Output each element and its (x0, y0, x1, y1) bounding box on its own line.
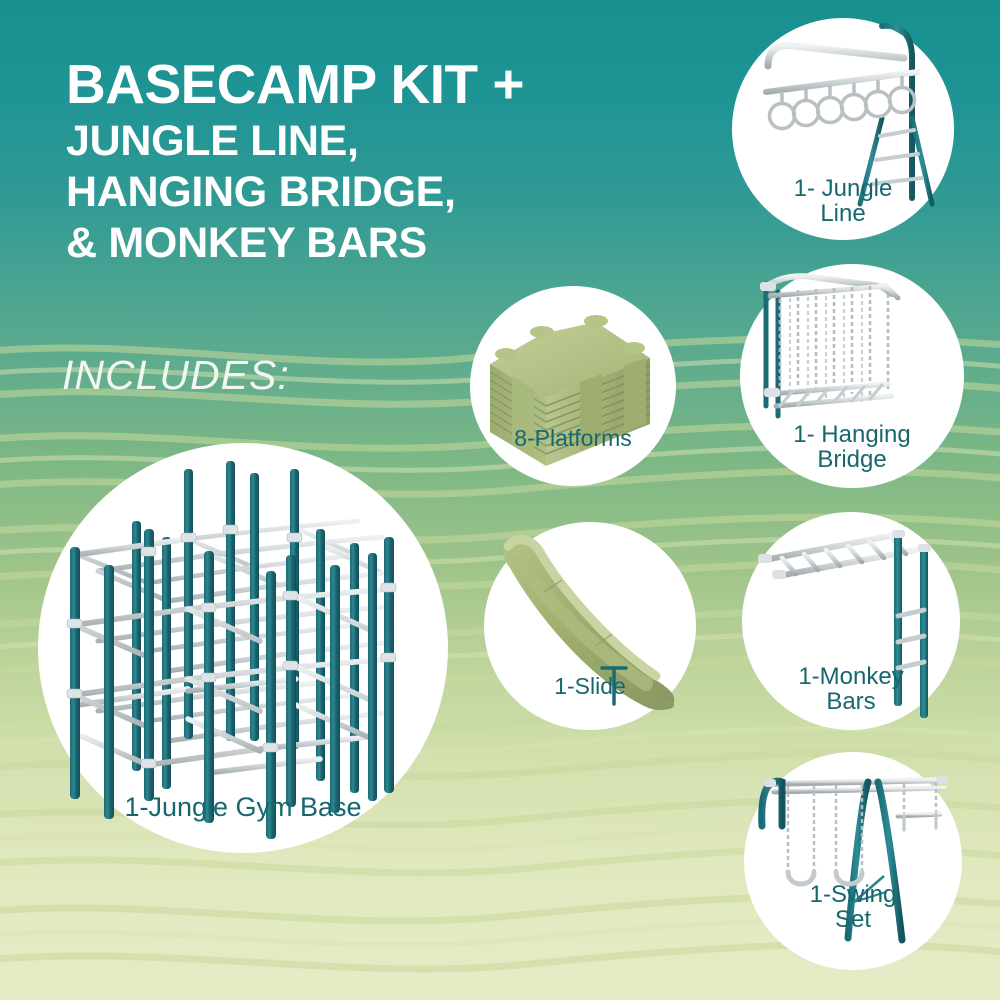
callout-label-line-2: Line (732, 201, 954, 226)
foam-platforms-icon (470, 286, 676, 486)
callout-label-line-2: Set (744, 907, 962, 932)
swing-set-icon (744, 752, 962, 970)
callout-label-platforms: 8-Platforms (470, 426, 676, 450)
callout-label-line-1: 1- Hanging (740, 422, 964, 447)
callout-label-line-1: 1- Jungle (732, 176, 954, 201)
headline-sub-line-2: HANGING BRIDGE, (66, 167, 686, 218)
callout-label-line-1: 1-Swing (744, 882, 962, 907)
callout-label-jungle-gym-base: 1-Jungle Gym Base (38, 793, 448, 822)
callout-platforms: 8-Platforms (470, 286, 676, 486)
callout-slide: 1-Slide (484, 522, 696, 730)
callout-jungle-gym-base: 1-Jungle Gym Base (38, 443, 448, 853)
callout-label-line-1: 1-Slide (554, 673, 626, 699)
callout-label-line-2: Bars (742, 689, 960, 714)
callout-label-line-2: Bridge (740, 447, 964, 472)
callout-label-slide: 1-Slide (484, 674, 696, 698)
callout-label-line-1: 8-Platforms (514, 425, 632, 451)
callout-label-monkey-bars: 1-Monkey Bars (742, 664, 960, 715)
callout-label-line-1: 1-Jungle Gym Base (124, 792, 361, 822)
callout-label-swing-set: 1-Swing Set (744, 882, 962, 933)
poster-canvas: BASECAMP KIT + JUNGLE LINE, HANGING BRID… (0, 0, 1000, 1000)
headline-block: BASECAMP KIT + JUNGLE LINE, HANGING BRID… (66, 56, 686, 268)
callout-jungle-line: 1- Jungle Line (732, 18, 954, 240)
headline-sub-line-1: JUNGLE LINE, (66, 116, 686, 167)
callout-monkey-bars: 1-Monkey Bars (742, 512, 960, 730)
callout-label-line-1: 1-Monkey (742, 664, 960, 689)
page-title: BASECAMP KIT + (66, 56, 686, 112)
headline-subtitle: JUNGLE LINE, HANGING BRIDGE, & MONKEY BA… (66, 116, 686, 268)
callout-hanging-bridge: 1- Hanging Bridge (740, 264, 964, 488)
callout-label-hanging-bridge: 1- Hanging Bridge (740, 422, 964, 473)
callout-swing-set: 1-Swing Set (744, 752, 962, 970)
includes-label: INCLUDES: (62, 352, 290, 399)
callout-label-jungle-line: 1- Jungle Line (732, 176, 954, 227)
headline-sub-line-3: & MONKEY BARS (66, 218, 686, 269)
